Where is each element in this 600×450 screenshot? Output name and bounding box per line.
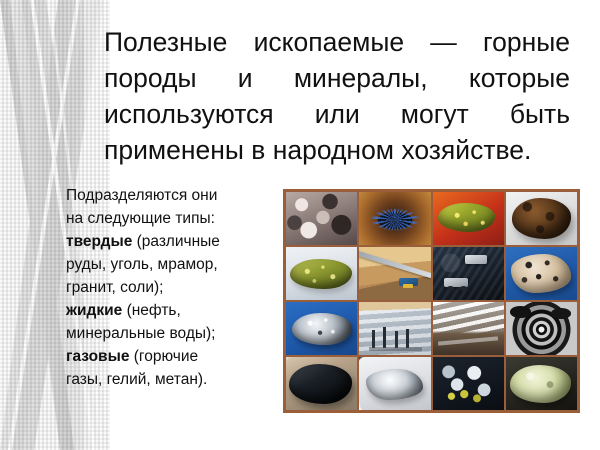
- body-item-solid-detail-1: (различные: [132, 233, 220, 250]
- collage-tile-granite-speckled-rock: [506, 247, 577, 300]
- body-item-gas: газовые (горючие: [66, 345, 274, 368]
- slide-title: Полезные ископаемые — горные породы и ми…: [104, 24, 570, 168]
- body-item-solid-detail-2: руды, уголь, мрамор,: [66, 253, 274, 276]
- collage-tile-quarry-drilling-rigs: [359, 302, 430, 355]
- body-item-liquid: жидкие (нефть,: [66, 299, 274, 322]
- collage-tile-black-coal-lump: [286, 357, 357, 410]
- minerals-photo-grid: [283, 189, 580, 413]
- body-text-block: Подразделяются они на следующие типы: тв…: [66, 184, 274, 391]
- collage-tile-green-gold-ore-on-red: [433, 192, 504, 245]
- title-line-3: используются или могут быть: [104, 96, 570, 132]
- collage-tile-pyrite-quartz-crystal-cluster: [433, 357, 504, 410]
- collage-tile-ore-rock-gray-pink: [286, 192, 357, 245]
- title-line-2: породы и минералы, которые: [104, 60, 570, 96]
- collage-tile-silver-metallic-ore: [286, 302, 357, 355]
- collage-tile-brown-iron-ore-nugget: [506, 192, 577, 245]
- body-item-liquid-detail-1: (нефть,: [122, 302, 181, 319]
- collage-tile-olive-green-ore-specimen: [286, 247, 357, 300]
- collage-tile-pale-green-mineral-chunk: [506, 357, 577, 410]
- body-item-gas-label: газовые: [66, 348, 129, 365]
- body-item-solid-detail-3: гранит, соли);: [66, 276, 274, 299]
- body-item-solid: твердые (различные: [66, 230, 274, 253]
- body-item-liquid-detail-2: минеральные воды);: [66, 322, 274, 345]
- collage-tile-coal-mine-excavator-trucks: [433, 247, 504, 300]
- collage-tile-silver-galena-crystal-cluster: [359, 357, 430, 410]
- body-item-gas-detail-1: (горючие: [129, 348, 198, 365]
- body-intro-line-2: на следующие типы:: [66, 207, 274, 230]
- title-line-1: Полезные ископаемые — горные: [104, 24, 570, 60]
- title-line-4: применены в народном хозяйстве.: [104, 132, 570, 168]
- body-item-liquid-label: жидкие: [66, 302, 122, 319]
- slide-canvas: Полезные ископаемые — горные породы и ми…: [0, 0, 600, 450]
- collage-tile-snowy-open-pit-terraces: [433, 302, 504, 355]
- collage-tile-gas-burner-ring-top-view: [506, 302, 577, 355]
- collage-tile-gas-stove-burner-flame: [359, 192, 430, 245]
- body-item-solid-label: твердые: [66, 233, 132, 250]
- collage-tile-open-pit-mine-conveyor: [359, 247, 430, 300]
- body-intro-line-1: Подразделяются они: [66, 184, 274, 207]
- body-item-gas-detail-2: газы, гелий, метан).: [66, 368, 274, 391]
